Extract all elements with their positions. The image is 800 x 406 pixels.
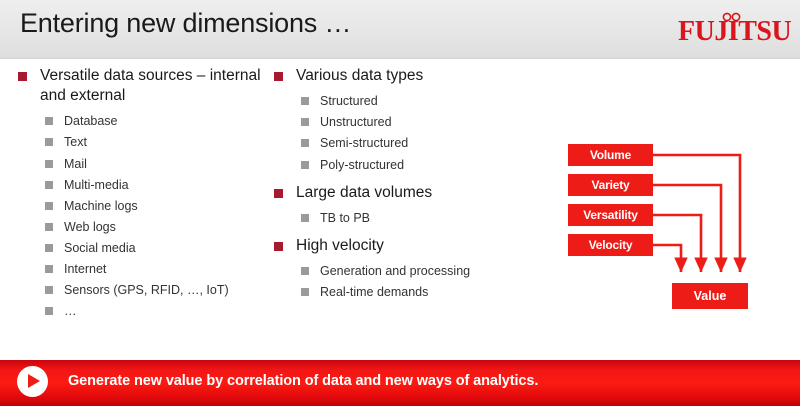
bullet-label: Structured	[320, 94, 378, 108]
bullet-list-level1: Various data types	[272, 66, 522, 86]
square-bullet-icon	[301, 139, 309, 147]
square-bullet-icon	[301, 97, 309, 105]
square-bullet-icon	[274, 189, 283, 198]
square-bullet-icon	[301, 118, 309, 126]
bullet-label: Large data volumes	[296, 184, 432, 201]
square-bullet-icon	[45, 307, 53, 315]
sub-list-wrapper: Database Text Mail Multi-media Machine l…	[40, 112, 266, 320]
bullet-label: Generation and processing	[320, 264, 470, 278]
group-high-velocity: High velocity Generation and processing …	[272, 236, 522, 301]
square-bullet-icon	[45, 265, 53, 273]
bullet-label: Real-time demands	[320, 285, 428, 299]
square-bullet-icon	[301, 214, 309, 222]
list-item: Social media	[40, 239, 266, 257]
arrow-velocity	[653, 245, 681, 272]
list-item: Web logs	[40, 218, 266, 236]
diagram-box-versatility: Versatility	[568, 204, 653, 226]
bullet-label: Semi-structured	[320, 136, 408, 150]
list-item: Multi-media	[40, 176, 266, 194]
list-item: Internet	[40, 260, 266, 278]
list-item: Real-time demands	[296, 283, 522, 301]
square-bullet-icon	[301, 161, 309, 169]
sub-list-wrapper: Generation and processing Real-time dema…	[296, 262, 522, 301]
bullet-list-level2: Database Text Mail Multi-media Machine l…	[40, 112, 266, 320]
fujitsu-logo: FUJITSU	[678, 12, 790, 50]
square-bullet-icon	[301, 288, 309, 296]
slide-header: Entering new dimensions … FUJITSU	[0, 0, 800, 59]
diagram-box-variety: Variety	[568, 174, 653, 196]
square-bullet-icon	[18, 72, 27, 81]
list-item: Versatile data sources – internal and ex…	[16, 66, 266, 106]
bullet-label: Various data types	[296, 67, 423, 84]
arrow-variety	[653, 185, 721, 272]
group-various-data-types: Various data types Structured Unstructur…	[272, 66, 522, 174]
bullet-label: Machine logs	[64, 199, 138, 213]
sub-list-wrapper: Structured Unstructured Semi-structured …	[296, 92, 522, 174]
bullet-label: Mail	[64, 157, 87, 171]
bottom-banner: Generate new value by correlation of dat…	[0, 360, 800, 406]
list-item: High velocity	[272, 236, 522, 256]
bullet-label: Web logs	[64, 220, 116, 234]
bullet-label: Internet	[64, 262, 106, 276]
bullet-list-level2: Structured Unstructured Semi-structured …	[296, 92, 522, 174]
list-item: TB to PB	[296, 209, 522, 227]
square-bullet-icon	[45, 244, 53, 252]
bullet-list-level1: Versatile data sources – internal and ex…	[16, 66, 266, 106]
square-bullet-icon	[274, 72, 283, 81]
list-item: Structured	[296, 92, 522, 110]
list-item: Text	[40, 133, 266, 151]
square-bullet-icon	[45, 181, 53, 189]
bullet-label: Database	[64, 114, 118, 128]
list-item: Large data volumes	[272, 183, 522, 203]
page-title: Entering new dimensions …	[20, 8, 351, 39]
column-data-sources: Versatile data sources – internal and ex…	[16, 66, 266, 329]
bullet-label: Multi-media	[64, 178, 129, 192]
bullet-label: Social media	[64, 241, 136, 255]
bullet-list-level2: TB to PB	[296, 209, 522, 227]
list-item: Mail	[40, 155, 266, 173]
bullet-list-level2: Generation and processing Real-time dema…	[296, 262, 522, 301]
bullet-label: …	[64, 304, 77, 318]
bullet-label: Text	[64, 135, 87, 149]
square-bullet-icon	[45, 117, 53, 125]
sub-list-wrapper: TB to PB	[296, 209, 522, 227]
square-bullet-icon	[45, 160, 53, 168]
list-item: Database	[40, 112, 266, 130]
arrow-volume	[653, 155, 740, 272]
square-bullet-icon	[274, 242, 283, 251]
diagram-box-volume: Volume	[568, 144, 653, 166]
play-icon	[17, 366, 48, 397]
value-flow-diagram: Volume Variety Versatility Velocity Valu…	[540, 120, 800, 335]
arrow-versatility	[653, 215, 701, 272]
square-bullet-icon	[45, 286, 53, 294]
diagram-box-value: Value	[672, 283, 748, 309]
banner-message: Generate new value by correlation of dat…	[68, 373, 538, 389]
square-bullet-icon	[45, 202, 53, 210]
bullet-label: Unstructured	[320, 115, 392, 129]
list-item: Semi-structured	[296, 134, 522, 152]
square-bullet-icon	[45, 223, 53, 231]
square-bullet-icon	[45, 138, 53, 146]
list-item: Poly-structured	[296, 156, 522, 174]
slide: Entering new dimensions … FUJITSU Versat…	[0, 0, 800, 406]
bullet-label: High velocity	[296, 237, 384, 254]
list-item: Various data types	[272, 66, 522, 86]
fujitsu-wordmark: FUJITSU	[678, 18, 791, 46]
column-data-characteristics: Various data types Structured Unstructur…	[272, 66, 522, 310]
bullet-label: TB to PB	[320, 211, 370, 225]
diagram-box-velocity: Velocity	[568, 234, 653, 256]
bullet-list-level1: Large data volumes	[272, 183, 522, 203]
bullet-label: Versatile data sources – internal and ex…	[40, 67, 261, 104]
square-bullet-icon	[301, 267, 309, 275]
bullet-label: Poly-structured	[320, 158, 404, 172]
list-item: …	[40, 302, 266, 320]
group-large-data-volumes: Large data volumes TB to PB	[272, 183, 522, 227]
bullet-label: Sensors (GPS, RFID, …, IoT)	[64, 283, 229, 297]
bullet-list-level1: High velocity	[272, 236, 522, 256]
list-item: Machine logs	[40, 197, 266, 215]
list-item: Sensors (GPS, RFID, …, IoT)	[40, 281, 266, 299]
list-item: Unstructured	[296, 113, 522, 131]
list-item: Generation and processing	[296, 262, 522, 280]
